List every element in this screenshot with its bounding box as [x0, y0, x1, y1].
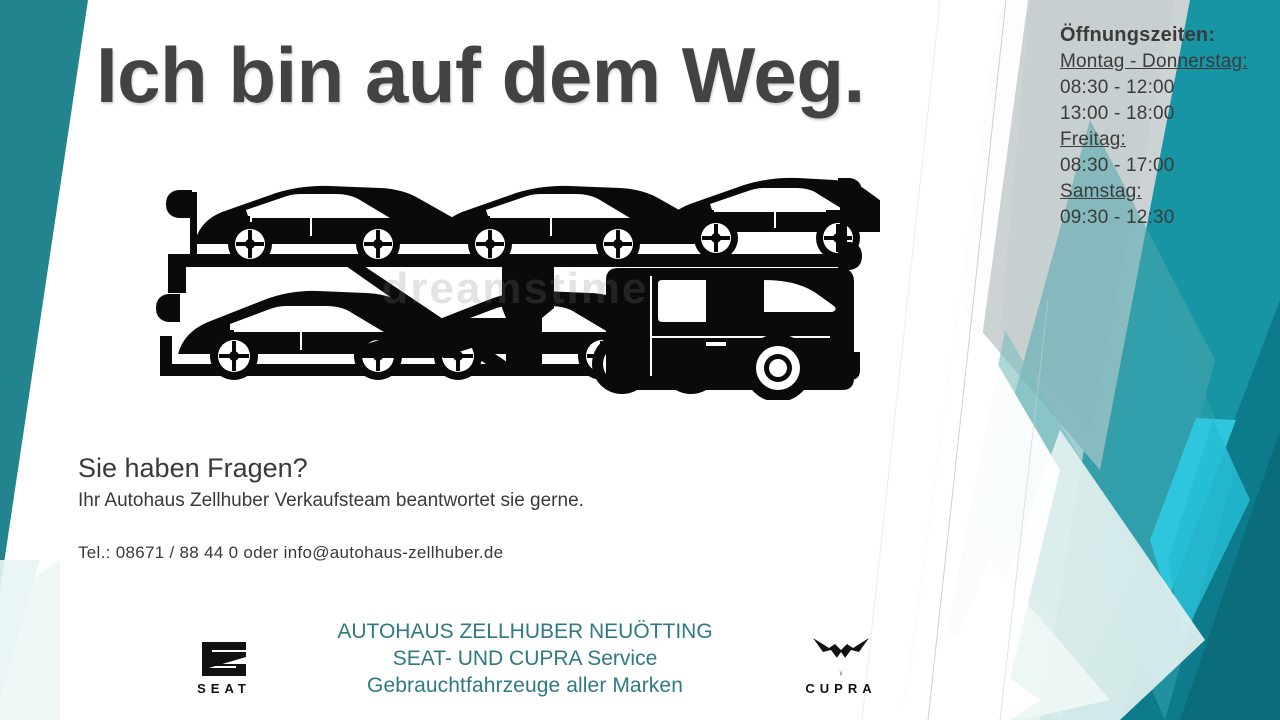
cupra-logo: CUPRA — [795, 636, 887, 700]
hours-time-value: 08:30 - 17:00 — [1060, 153, 1275, 179]
car-transporter-illustration: dreamstime — [150, 168, 880, 400]
seat-s-mark-icon — [198, 640, 250, 678]
seam-line-1 — [928, 0, 1006, 720]
right-teal-dark — [1120, 300, 1280, 720]
contact-block: Sie haben Fragen? Ihr Autohaus Zellhuber… — [78, 450, 584, 566]
footer-service-line: SEAT- UND CUPRA Service — [280, 645, 770, 672]
bottom-left-tint — [0, 560, 60, 720]
hours-time-value: 08:30 - 12:00 — [1060, 75, 1275, 101]
hours-day-label: Montag - Donnerstag: — [1060, 49, 1275, 75]
car-transporter-icon — [150, 168, 880, 400]
pale-panel-a — [955, 430, 1205, 720]
teal-slab-c — [1095, 250, 1235, 720]
white-sheet-b — [900, 0, 1028, 720]
footer-company-name: AUTOHAUS ZELLHUBER NEUÖTTING — [280, 618, 770, 645]
opening-hours-title: Öffnungszeiten: — [1060, 22, 1275, 48]
page-title: Ich bin auf dem Weg. — [96, 36, 865, 114]
hours-day-label: Samstag: — [1060, 179, 1275, 205]
hours-time-value: 09:30 - 12:30 — [1060, 205, 1275, 231]
seat-logo: SEAT — [178, 640, 270, 700]
seam-line-2 — [1000, 300, 1048, 720]
hours-time-value: 13:00 - 18:00 — [1060, 101, 1275, 127]
contact-question: Sie haben Fragen? — [78, 450, 584, 486]
left-teal-wedge — [0, 0, 88, 590]
footer-company-block: AUTOHAUS ZELLHUBER NEUÖTTING SEAT- UND C… — [280, 618, 770, 699]
pale-panel-b — [930, 560, 1110, 720]
white-sheet-c — [905, 300, 1060, 720]
hours-day-label: Freitag: — [1060, 127, 1275, 153]
right-teal-darker — [1180, 430, 1280, 720]
seat-wordmark: SEAT — [178, 681, 270, 696]
slide-canvas: Ich bin auf dem Weg. Öffnungszeiten: Mon… — [0, 0, 1280, 720]
teal-slab-b — [945, 330, 1140, 720]
contact-phone-email[interactable]: Tel.: 08671 / 88 44 0 oder info@autohaus… — [78, 540, 584, 566]
cupra-tribal-mark-icon — [811, 636, 871, 678]
left-pale-tint — [0, 560, 40, 700]
cupra-wordmark: CUPRA — [795, 681, 887, 696]
contact-subtitle: Ihr Autohaus Zellhuber Verkaufsteam bean… — [78, 486, 584, 516]
white-sheet-d — [900, 620, 1040, 720]
cyan-accent-wedge — [1150, 418, 1236, 600]
footer-used-cars-line: Gebrauchtfahrzeuge aller Marken — [280, 672, 770, 699]
opening-hours-block: Öffnungszeiten: Montag - Donnerstag: 08:… — [1060, 22, 1275, 231]
cyan-accent-wedge-2 — [1168, 420, 1250, 640]
